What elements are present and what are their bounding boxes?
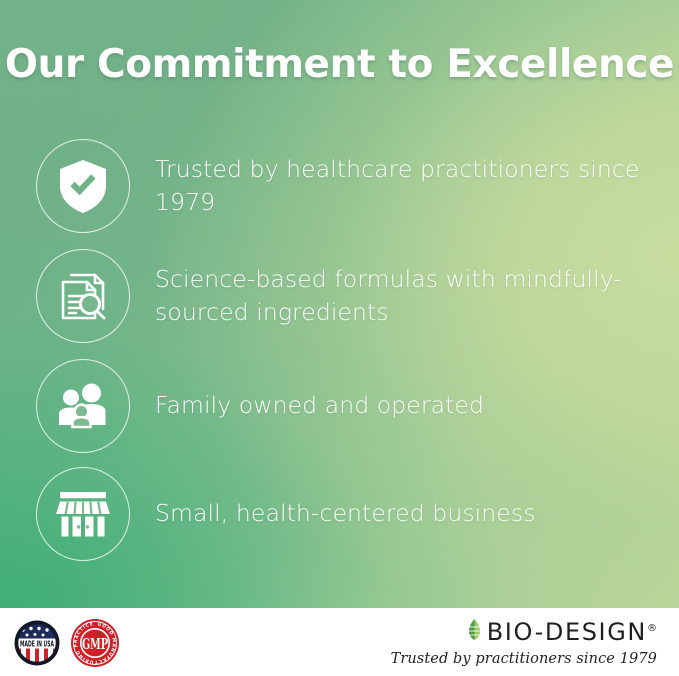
leaf-icon <box>465 618 487 646</box>
brand-name-text: BIO-DESIGN <box>487 618 647 646</box>
promotional-banner: Our Commitment to Excellence Trusted by … <box>0 0 679 676</box>
feature-label: Family owned and operated <box>155 389 484 422</box>
feature-label: Science-based formulas with mindfully-so… <box>155 263 651 330</box>
feature-row-small-business: Small, health-centered business <box>36 466 651 562</box>
icon-circle <box>36 139 130 233</box>
footer: MADE IN USA GOOD MANUFACTURING PRACTICE … <box>0 608 679 676</box>
document-magnifier-icon <box>54 267 112 325</box>
family-icon <box>54 377 112 435</box>
gmp-badge: GOOD MANUFACTURING PRACTICE GMP <box>69 618 121 672</box>
page-title: Our Commitment to Excellence <box>0 42 679 87</box>
brand-tagline: Trusted by practitioners since 1979 <box>391 651 657 667</box>
brand-name: BIO-DESIGN® <box>487 620 657 644</box>
brand-logo-block: BIO-DESIGN® Trusted by practitioners sin… <box>391 618 657 667</box>
storefront-icon <box>54 485 112 543</box>
icon-circle <box>36 359 130 453</box>
feature-row-science: Science-based formulas with mindfully-so… <box>36 248 651 344</box>
icon-circle <box>36 249 130 343</box>
feature-label: Small, health-centered business <box>155 497 536 530</box>
icon-circle <box>36 467 130 561</box>
feature-row-trusted: Trusted by healthcare practitioners sinc… <box>36 138 651 234</box>
shield-check-icon <box>54 157 112 215</box>
svg-text:GMP: GMP <box>82 635 108 653</box>
feature-row-family: Family owned and operated <box>36 358 651 454</box>
svg-text:MADE IN USA: MADE IN USA <box>20 639 54 649</box>
registered-trademark-symbol: ® <box>647 623 657 634</box>
certification-badges: MADE IN USA GOOD MANUFACTURING PRACTICE … <box>12 618 121 672</box>
feature-label: Trusted by healthcare practitioners sinc… <box>155 153 651 220</box>
made-in-usa-badge: MADE IN USA <box>12 619 62 671</box>
